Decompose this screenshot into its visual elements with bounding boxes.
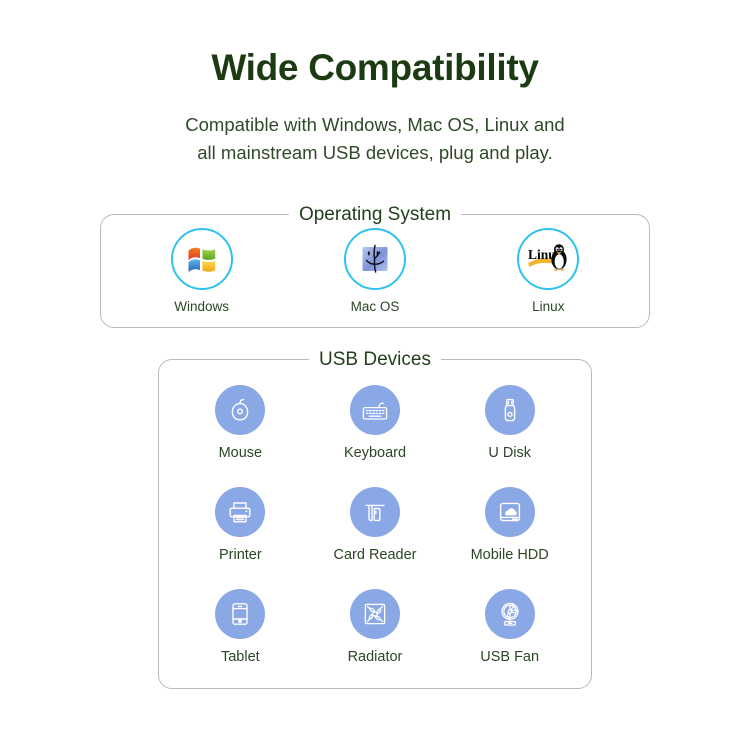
usb-item-printer[interactable]: Printer (173, 474, 308, 576)
page-title: Wide Compatibility (0, 0, 750, 90)
usb-item-radiator[interactable]: Radiator (308, 576, 443, 678)
usb-icon-circle-usb-fan (485, 589, 535, 639)
mac-finder-face-icon (356, 240, 394, 278)
usb-icon-circle-mobile-hdd (485, 487, 535, 537)
usb-devices-panel-legend: USB Devices (309, 348, 441, 372)
operating-system-panel: Operating System (100, 214, 650, 328)
usb-devices-grid: Mouse Keyboard (159, 360, 591, 688)
external-hard-drive-icon (496, 498, 524, 526)
usb-item-label-card-reader: Card Reader (333, 547, 416, 563)
usb-icon-circle-udisk (485, 385, 535, 435)
usb-item-keyboard[interactable]: Keyboard (308, 372, 443, 474)
windows-logo-icon (183, 240, 221, 278)
usb-item-mobile-hdd[interactable]: Mobile HDD (442, 474, 577, 576)
os-item-windows[interactable]: Windows (127, 228, 277, 314)
usb-item-label-udisk: U Disk (488, 445, 531, 461)
usb-item-label-radiator: Radiator (348, 649, 403, 665)
usb-item-card-reader[interactable]: Card Reader (308, 474, 443, 576)
usb-icon-circle-keyboard (350, 385, 400, 435)
compatibility-infographic: Wide Compatibility Compatible with Windo… (0, 0, 750, 750)
usb-item-mouse[interactable]: Mouse (173, 372, 308, 474)
usb-devices-panel: USB Devices Mouse (158, 359, 592, 689)
usb-icon-circle-mouse (215, 385, 265, 435)
operating-system-panel-legend: Operating System (289, 203, 461, 227)
os-icon-ring-windows (171, 228, 233, 290)
usb-flash-drive-icon (496, 396, 524, 424)
tablet-icon (226, 600, 254, 628)
printer-icon (226, 498, 254, 526)
usb-item-udisk[interactable]: U Disk (442, 372, 577, 474)
card-reader-icon (361, 498, 389, 526)
os-icon-ring-linux: Linux (517, 228, 579, 290)
subtitle-line-1: Compatible with Windows, Mac OS, Linux a… (185, 114, 564, 135)
os-item-macos[interactable]: Mac OS (300, 228, 450, 314)
usb-icon-circle-radiator (350, 589, 400, 639)
usb-icon-circle-tablet (215, 589, 265, 639)
usb-item-label-tablet: Tablet (221, 649, 260, 665)
radiator-cooling-fan-icon (361, 600, 389, 628)
mouse-icon (226, 396, 254, 424)
usb-item-label-keyboard: Keyboard (344, 445, 406, 461)
usb-icon-circle-printer (215, 487, 265, 537)
usb-item-label-mobile-hdd: Mobile HDD (471, 547, 549, 563)
usb-fan-icon (496, 600, 524, 628)
usb-item-label-printer: Printer (219, 547, 262, 563)
operating-system-list: Windows (101, 215, 649, 327)
os-item-label-macos: Mac OS (351, 299, 400, 314)
os-item-label-windows: Windows (174, 299, 229, 314)
usb-item-label-usb-fan: USB Fan (480, 649, 539, 665)
os-icon-ring-macos (344, 228, 406, 290)
usb-icon-circle-card-reader (350, 487, 400, 537)
page-subtitle: Compatible with Windows, Mac OS, Linux a… (0, 90, 750, 168)
usb-item-label-mouse: Mouse (219, 445, 263, 461)
subtitle-line-2: all mainstream USB devices, plug and pla… (197, 142, 552, 163)
keyboard-icon (360, 395, 390, 425)
usb-item-usb-fan[interactable]: USB Fan (442, 576, 577, 678)
os-item-linux[interactable]: Linux (473, 228, 623, 314)
usb-item-tablet[interactable]: Tablet (173, 576, 308, 678)
linux-tux-logo-icon: Linux (525, 240, 571, 278)
os-item-label-linux: Linux (532, 299, 564, 314)
